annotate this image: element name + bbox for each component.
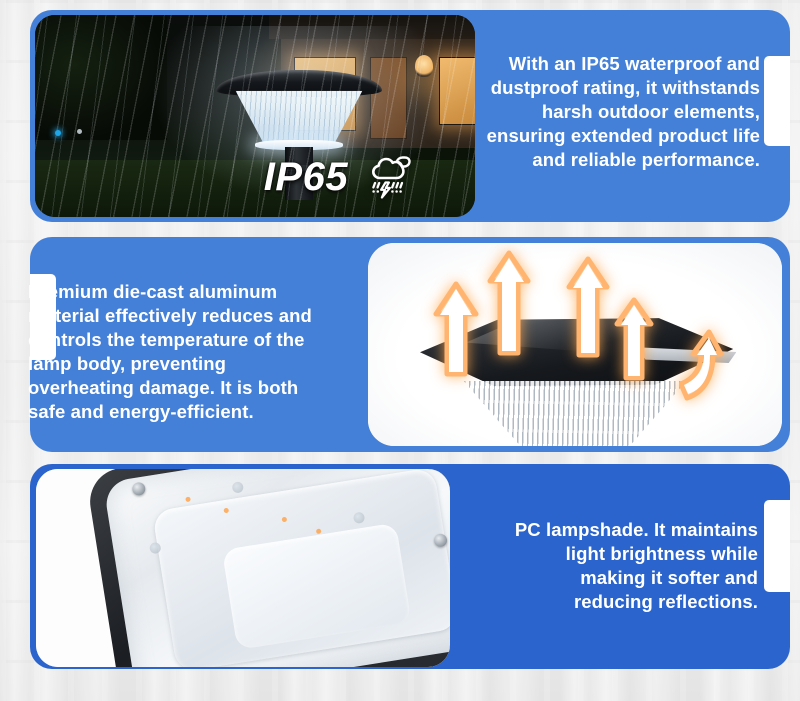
rain-cloud-lightning-icon (358, 155, 412, 201)
panel-notch-right-3 (764, 500, 790, 592)
heat-arrow-icon (430, 280, 482, 378)
pc-diffuser-panel (103, 469, 450, 667)
heat-arrow-icon (563, 255, 613, 359)
photo-heat-dissipation (368, 243, 782, 446)
heat-arrow-icon (679, 328, 725, 402)
panel-notch-right-1 (764, 56, 790, 146)
heat-arrow-icon (484, 249, 534, 357)
heat-arrow-icon (612, 296, 656, 382)
pc-diffuser-inner-ring (152, 469, 450, 667)
photo-pc-lampshade (36, 469, 450, 667)
lampshade-body (85, 469, 450, 667)
pc-diffuser-center (222, 523, 412, 651)
panel-notch-left-2 (30, 274, 56, 360)
ip65-label: IP65 (264, 155, 348, 200)
feature-text-aluminum: Premium die-cast aluminum material effec… (28, 280, 328, 424)
feature-text-waterproof: With an IP65 waterproof and dustproof ra… (460, 52, 760, 172)
photo-night-garden-lamp: IP65 (35, 15, 475, 217)
feature-panels-page: IP65 (0, 0, 800, 701)
ip65-badge: IP65 (264, 155, 412, 201)
feature-text-lampshade: PC lampshade. It maintains light brightn… (478, 518, 758, 614)
white-light-dot (77, 129, 82, 134)
blue-light-dot (55, 130, 61, 136)
